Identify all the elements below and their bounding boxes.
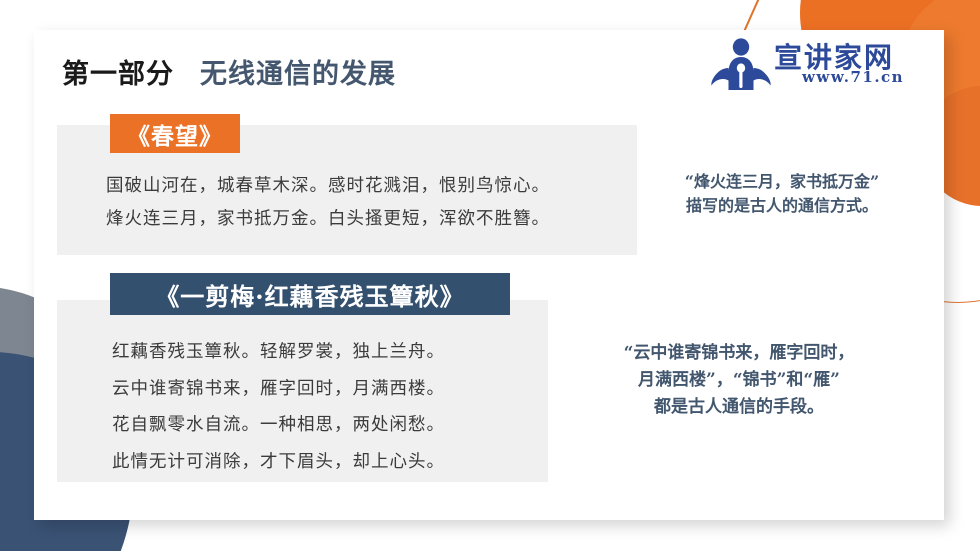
brand-logo: 宣讲家网 www.71.cn [710, 34, 910, 100]
poem-body-yijianmei: 红藕香残玉簟秋。轻解罗裳，独上兰舟。 云中谁寄锦书来，雁字回时，月满西楼。 花自… [112, 334, 445, 480]
poem-line: 此情无计可消除，才下眉头，却上心头。 [112, 444, 445, 481]
page-title-subject: 无线通信的发展 [200, 59, 396, 89]
brand-url: www.71.cn [802, 68, 904, 86]
commentary-yijianmei: “云中谁寄锦书来，雁字回时， 月满西楼”，“锦书”和“雁” 都是古人通信的手段。 [554, 340, 924, 421]
commentary-line: 描写的是古人的通信方式。 [642, 194, 922, 218]
commentary-line: 都是古人通信的手段。 [554, 394, 924, 421]
commentary-line: “烽火连三月，家书抵万金” [642, 170, 922, 194]
page-title: 第一部分无线通信的发展 [62, 52, 396, 91]
page-title-section: 第一部分 [62, 59, 174, 89]
poem-body-chunwang: 国破山河在，城春草木深。感时花溅泪，恨别鸟惊心。 烽火连三月，家书抵万金。白头搔… [106, 170, 550, 236]
commentary-chunwang: “烽火连三月，家书抵万金” 描写的是古人的通信方式。 [642, 170, 922, 218]
poem-line: 烽火连三月，家书抵万金。白头搔更短，浑欲不胜簪。 [106, 203, 550, 236]
poem-line: 国破山河在，城春草木深。感时花溅泪，恨别鸟惊心。 [106, 170, 550, 203]
poem-title-badge-chunwang: 《春望》 [110, 114, 240, 153]
poem-line: 云中谁寄锦书来，雁字回时，月满西楼。 [112, 371, 445, 408]
speaker-at-podium-icon [710, 38, 772, 94]
commentary-line: “云中谁寄锦书来，雁字回时， [554, 340, 924, 367]
commentary-line: 月满西楼”，“锦书”和“雁” [554, 367, 924, 394]
slide-content-card: 第一部分无线通信的发展 宣讲家网 www.71.cn 《春望》 [34, 30, 944, 520]
presentation-slide: 第一部分无线通信的发展 宣讲家网 www.71.cn 《春望》 [0, 0, 980, 551]
poem-line: 花自飘零水自流。一种相思，两处闲愁。 [112, 407, 445, 444]
poem-title-badge-yijianmei: 《一剪梅·红藕香残玉簟秋》 [110, 273, 510, 315]
poem-line: 红藕香残玉簟秋。轻解罗裳，独上兰舟。 [112, 334, 445, 371]
